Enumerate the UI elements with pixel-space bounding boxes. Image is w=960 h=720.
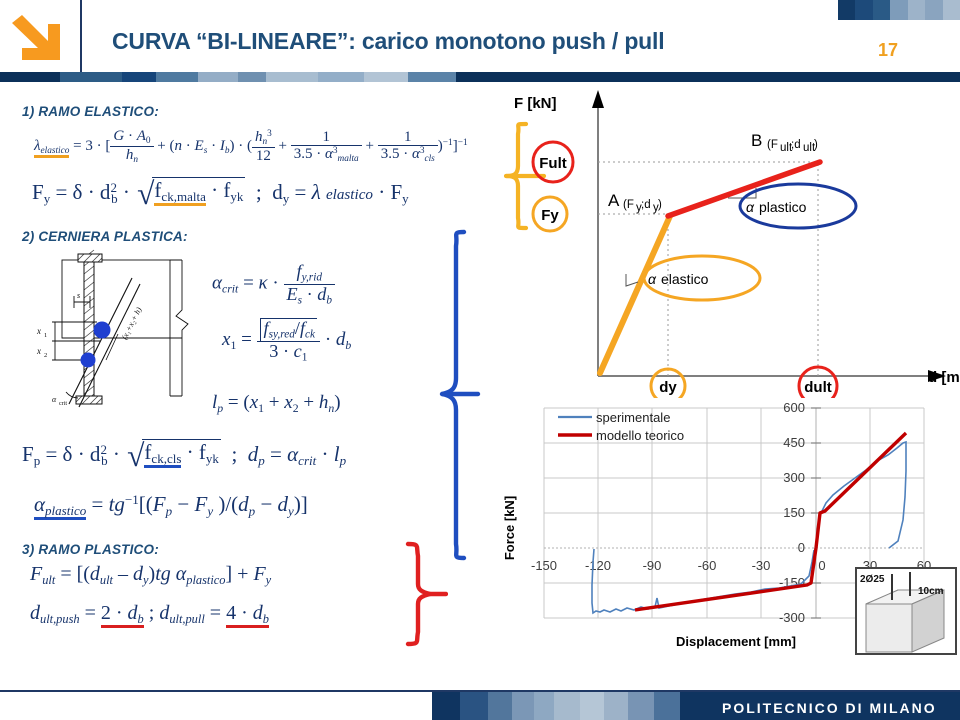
svg-text:1: 1 <box>44 332 47 339</box>
formula-fy: Fy = δ · d2b · √fck,malta · fyk ; dy = λ… <box>32 176 409 212</box>
formula-fp: Fp = δ · d2b · √fck,cls · fyk ; dp = αcr… <box>22 438 346 474</box>
svg-text:x: x <box>36 326 41 336</box>
formula-fult: Fult = [(dult – dy)tg αplastico] + Fy <box>30 563 271 588</box>
bilinear-x-axis-label: d [mm] <box>928 369 960 386</box>
ytick-450: 450 <box>783 435 805 450</box>
header-band <box>0 72 960 82</box>
svg-text:Fy: Fy <box>541 207 559 224</box>
header-decoration-blocks <box>820 0 960 20</box>
brace-plastic-hinge <box>432 228 482 562</box>
legend-item-modello-teorico: modello teorico <box>596 428 684 443</box>
bilinear-curve-diagram: F [kN] d [mm] A (F y ;d y ) B (F ult ;d … <box>498 86 960 398</box>
svg-text:s: s <box>77 291 80 300</box>
section-3-label: 3) RAMO PLASTICO: <box>22 542 159 557</box>
formula-x1: x1 = fsy,red/fck3 · c1 · db <box>222 318 351 364</box>
bilinear-y-axis-label: F [kN] <box>514 95 557 112</box>
inset-label-height: 10cm <box>918 586 944 597</box>
svg-text:elastico: elastico <box>661 271 709 287</box>
svg-text:): ) <box>814 139 818 151</box>
specimen-inset: 2Ø25 10cm <box>856 568 956 654</box>
xtick-m90: -90 <box>643 558 662 573</box>
experimental-chart: 600 450 300 150 0 -150 -300 -150 -120 -9… <box>500 398 960 660</box>
xtick-m120: -120 <box>585 558 611 573</box>
svg-text:;d: ;d <box>641 199 651 211</box>
slide-root: CURVA “BI-LINEARE”: carico monotono push… <box>0 0 960 720</box>
svg-text:;d: ;d <box>791 139 801 151</box>
svg-text:x: x <box>36 346 41 356</box>
svg-text:dy: dy <box>659 379 677 396</box>
chart-x-axis-title: Displacement [mm] <box>676 634 796 649</box>
chart-y-axis-title: Force [kN] <box>502 496 517 560</box>
svg-text:): ) <box>658 199 662 211</box>
bilinear-point-b-coords: (F <box>767 139 778 151</box>
brace-plastic-branch <box>398 540 448 648</box>
legend-item-sperimentale: sperimentale <box>596 410 670 425</box>
svg-text:(x₁+x₂+ h): (x₁+x₂+ h) <box>120 306 144 341</box>
formula-alpha-plastico: αplastico = tg−1[(Fp − Fy )/(dp − dy)] <box>34 492 308 519</box>
formula-dult: dult,push = 2 · db ; dult,pull = 4 · db <box>30 602 269 627</box>
svg-text:2: 2 <box>44 352 47 359</box>
bilinear-point-b-label: B <box>751 131 762 150</box>
svg-text:Fult: Fult <box>539 155 567 172</box>
ytick-150: 150 <box>783 505 805 520</box>
xtick-m150: -150 <box>531 558 557 573</box>
svg-text:crit: crit <box>59 401 67 407</box>
xtick-m60: -60 <box>698 558 717 573</box>
svg-text:α: α <box>746 199 755 215</box>
svg-text:dult: dult <box>804 379 832 396</box>
formula-lambda-elastico: λelastico = 3 · [G · A0hn + (n · Es · Ib… <box>34 128 468 165</box>
ytick-300: 300 <box>783 470 805 485</box>
inset-label-rebar: 2Ø25 <box>860 574 885 585</box>
svg-text:α: α <box>648 271 657 287</box>
footer-institution: POLITECNICO DI MILANO <box>722 700 937 716</box>
section-1-label: 1) RAMO ELASTICO: <box>22 104 159 119</box>
bilinear-point-a-label: A <box>608 191 620 210</box>
section-2-label: 2) CERNIERA PLASTICA: <box>22 229 188 244</box>
ytick-m300: -300 <box>779 610 805 625</box>
down-right-arrow-icon <box>8 14 70 66</box>
formula-alpha-crit: αcrit = κ · fy,ridEs · db <box>212 262 335 307</box>
page-title: CURVA “BI-LINEARE”: carico monotono push… <box>112 28 812 55</box>
slide-number: 17 <box>878 40 898 61</box>
formula-lp: lp = (x1 + x2 + hn) <box>212 392 341 416</box>
rebar-joint-sketch: x 1 x 2 s α crit (x₁+x₂+ h) <box>22 248 207 408</box>
svg-text:plastico: plastico <box>759 199 807 215</box>
bilinear-point-a-coords: (F <box>623 199 634 211</box>
xtick-m30: -30 <box>752 558 771 573</box>
header-divider <box>80 0 82 72</box>
ytick-0: 0 <box>798 540 805 555</box>
svg-text:α: α <box>52 395 57 404</box>
ytick-600: 600 <box>783 400 805 415</box>
xtick-0: 0 <box>818 558 825 573</box>
